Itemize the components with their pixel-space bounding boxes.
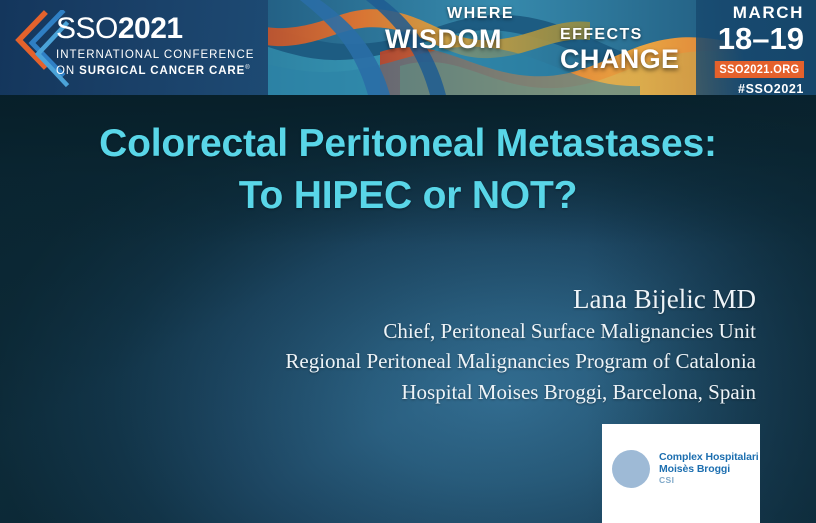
tagline-effects: EFFECTS [560,26,643,44]
author-affiliation-line-2: Regional Peritoneal Malignancies Program… [285,346,756,376]
slide-title-line-2: To HIPEC or NOT? [0,170,816,222]
hospital-logo-line-3: CSI [659,476,759,486]
sso-wordmark-prefix: SSO [56,12,118,45]
conference-hashtag: #SSO2021 [707,82,804,95]
sso-wordmark-year: 2021 [118,12,183,45]
author-affiliation-line-3: Hospital Moises Broggi, Barcelona, Spain [285,377,756,407]
slide-title: Colorectal Peritoneal Metastases: To HIP… [0,118,816,222]
tagline-change: CHANGE [560,44,679,75]
hospital-logo-line-1: Complex Hospitalari [659,452,759,464]
presentation-slide: SSO2021 INTERNATIONAL CONFERENCE ON SURG… [0,0,816,523]
hospital-logo-line-2: Moisès Broggi [659,464,759,476]
tagline-wisdom: WISDOM [385,24,502,55]
conference-banner: SSO2021 INTERNATIONAL CONFERENCE ON SURG… [0,0,816,95]
registered-mark-icon: ® [245,65,250,71]
sso-subtitle-line-2-light: ON [56,64,79,76]
tagline-where: WHERE [447,5,514,23]
conference-month: MARCH [707,4,804,21]
slide-title-line-1: Colorectal Peritoneal Metastases: [0,118,816,170]
conference-url-badge[interactable]: SSO2021.ORG [715,61,804,78]
author-affiliation-line-1: Chief, Peritoneal Surface Malignancies U… [285,316,756,346]
hospital-logo-circle-icon [612,450,650,488]
conference-date-block: MARCH 18–19 SSO2021.ORG #SSO2021 [707,4,804,95]
author-name: Lana Bijelic MD [285,284,756,316]
author-block: Lana Bijelic MD Chief, Peritoneal Surfac… [285,284,756,407]
sso-wordmark: SSO2021 INTERNATIONAL CONFERENCE ON SURG… [56,14,254,77]
sso-subtitle-line-1: INTERNATIONAL CONFERENCE [56,50,254,62]
sso-subtitle-line-2: ON SURGICAL CANCER CARE® [56,65,254,77]
conference-days: 18–19 [707,23,804,56]
hospital-logo: Complex Hospitalari Moisès Broggi CSI [602,424,760,523]
sso-subtitle-line-2-bold: SURGICAL CANCER CARE [79,64,245,76]
